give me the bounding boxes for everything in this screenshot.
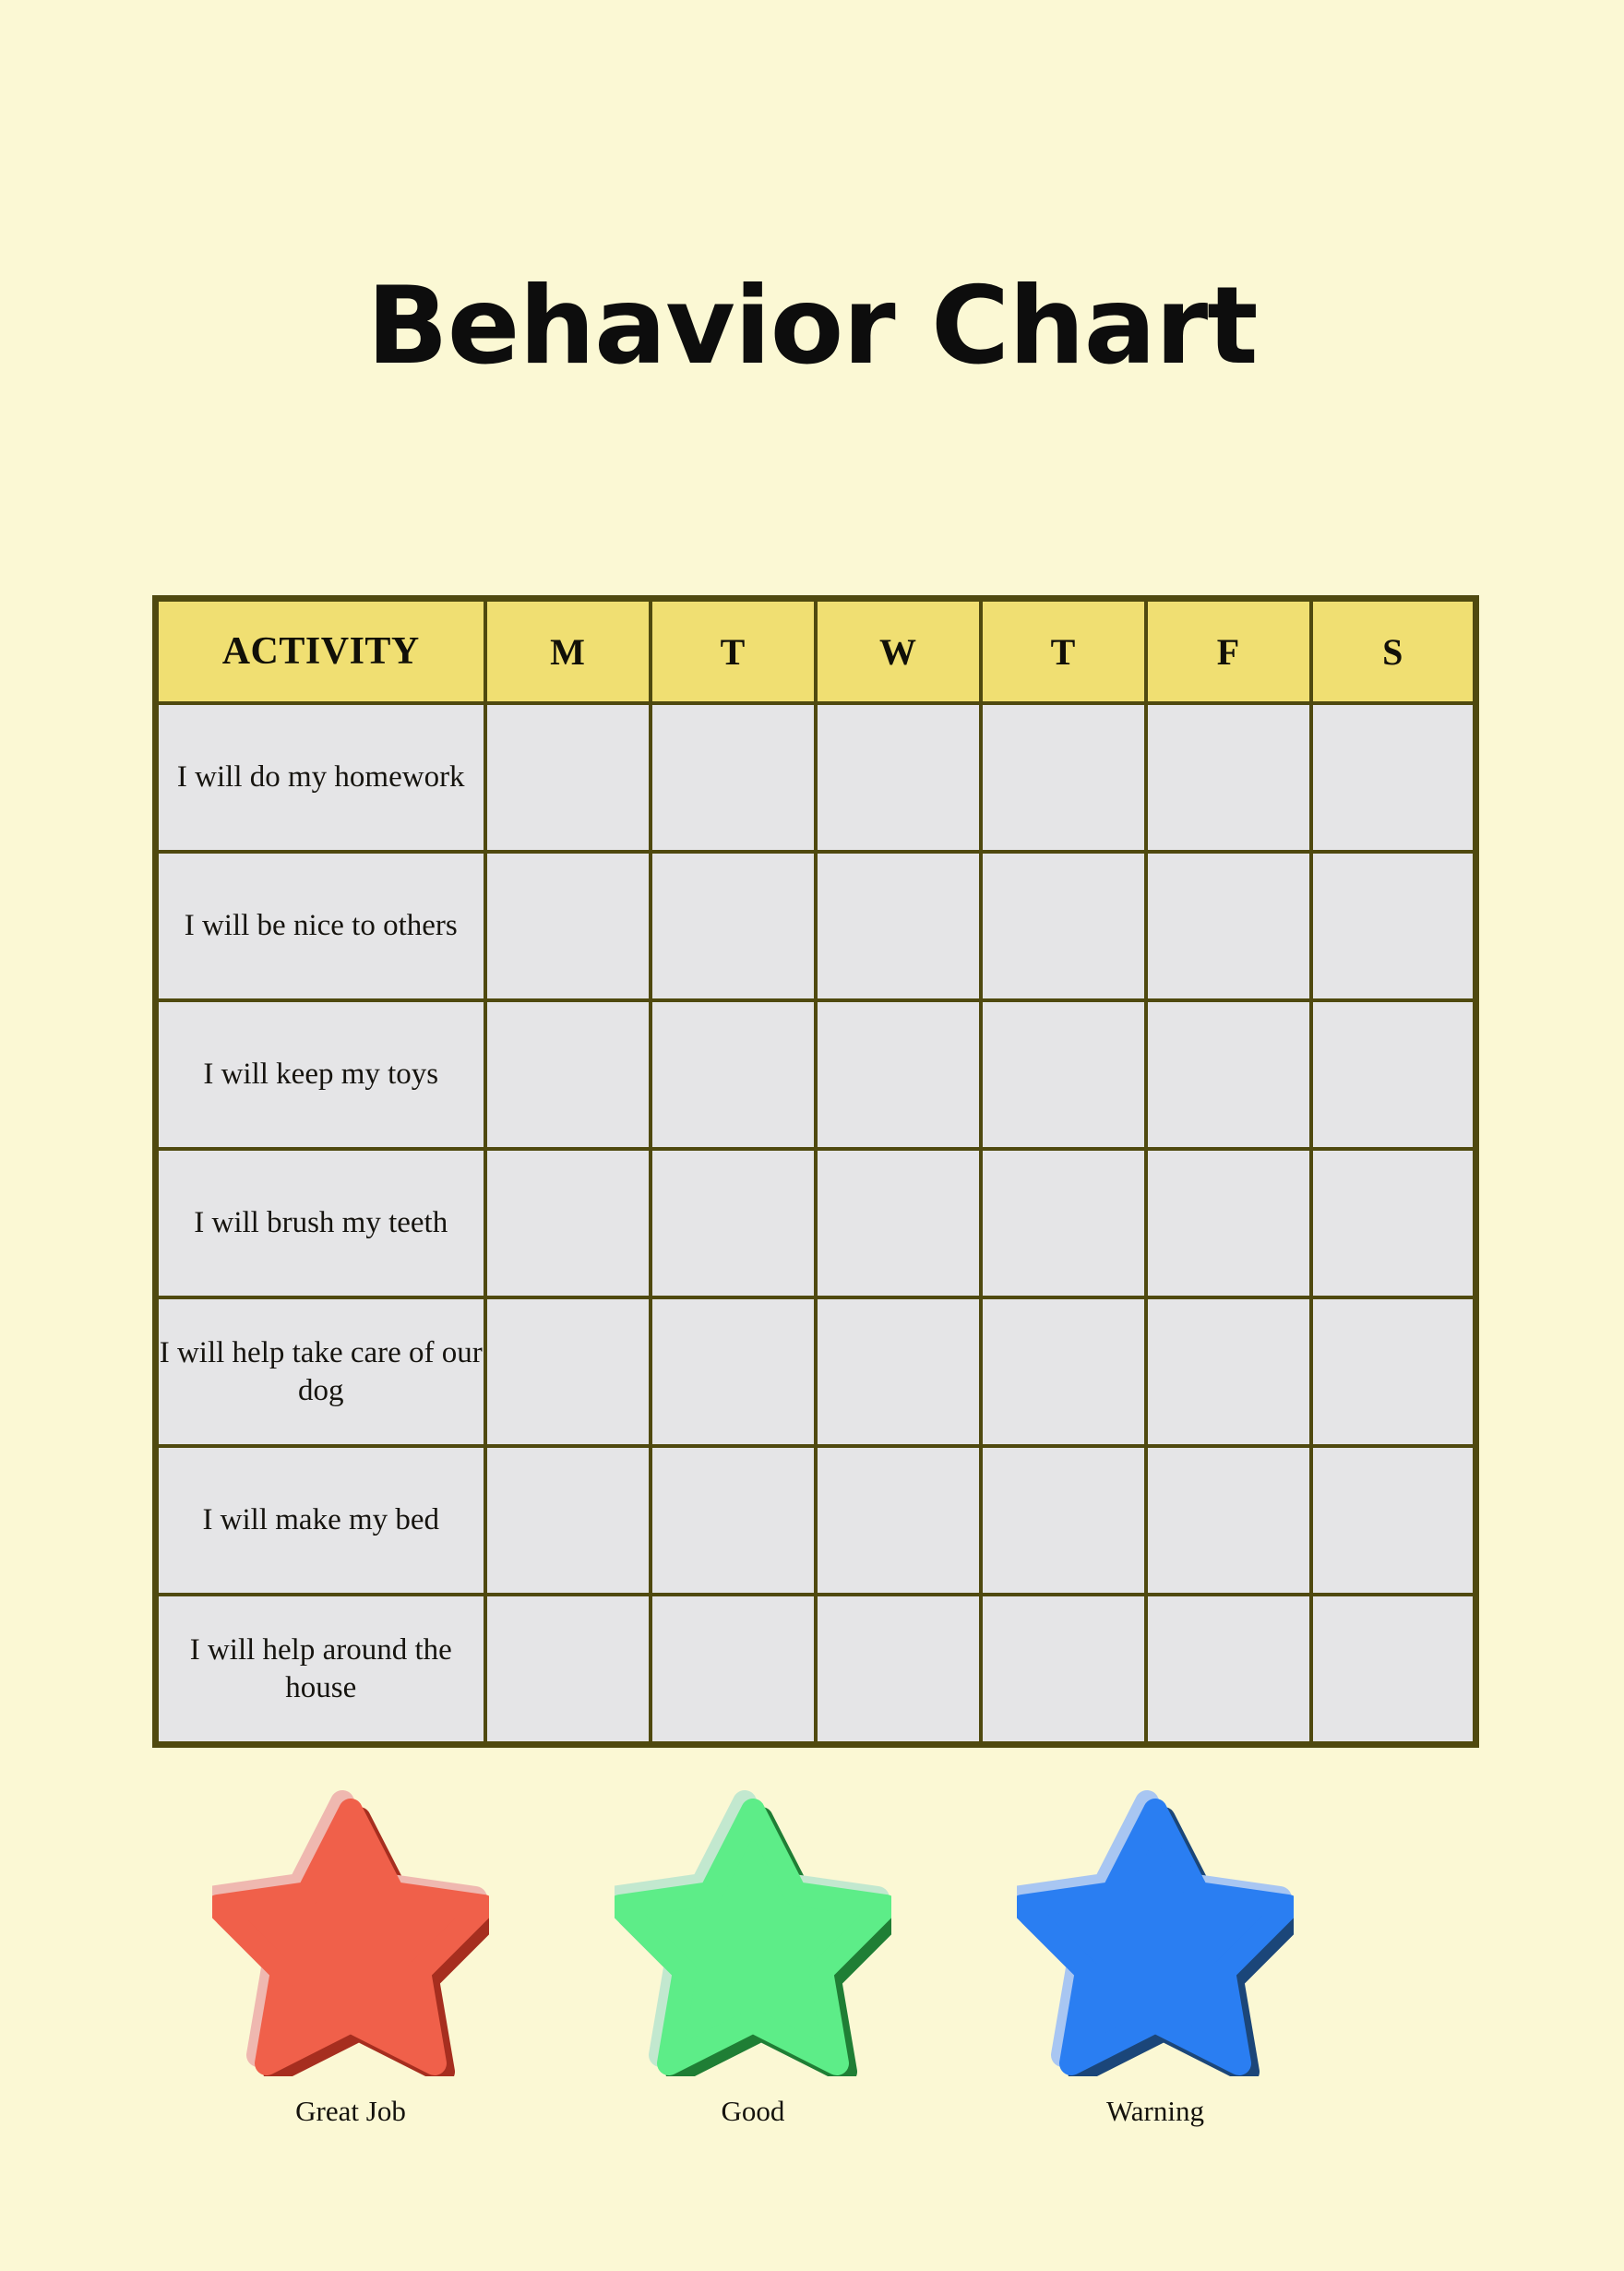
mark-cell-tue[interactable] bbox=[651, 1000, 816, 1149]
column-header-activity: ACTIVITY bbox=[156, 599, 485, 704]
mark-cell-wed[interactable] bbox=[816, 1000, 981, 1149]
mark-cell-tue[interactable] bbox=[651, 1446, 816, 1595]
legend-item-warning: Warning bbox=[957, 1781, 1354, 2125]
activity-label: I will be nice to others bbox=[156, 852, 485, 1000]
mark-cell-fri[interactable] bbox=[1146, 1149, 1311, 1297]
legend-label: Good bbox=[722, 2097, 785, 2125]
mark-cell-tue[interactable] bbox=[651, 1297, 816, 1446]
legend-item-good: Good bbox=[555, 1781, 951, 2125]
mark-cell-mon[interactable] bbox=[485, 1446, 651, 1595]
mark-cell-sat[interactable] bbox=[1311, 852, 1476, 1000]
mark-cell-thu[interactable] bbox=[981, 852, 1146, 1000]
table-row: I will do my homework bbox=[156, 703, 1476, 852]
mark-cell-wed[interactable] bbox=[816, 1446, 981, 1595]
column-header-thursday: T bbox=[981, 599, 1146, 704]
mark-cell-sat[interactable] bbox=[1311, 703, 1476, 852]
table-row: I will help around the house bbox=[156, 1595, 1476, 1745]
mark-cell-mon[interactable] bbox=[485, 1000, 651, 1149]
star-icon bbox=[1017, 1781, 1294, 2076]
mark-cell-tue[interactable] bbox=[651, 852, 816, 1000]
mark-cell-thu[interactable] bbox=[981, 1446, 1146, 1595]
legend-label: Warning bbox=[1106, 2097, 1204, 2125]
behavior-chart-page: Behavior Chart ACTIVITY M T W T F S bbox=[0, 0, 1624, 2271]
activity-label: I will do my homework bbox=[156, 703, 485, 852]
mark-cell-wed[interactable] bbox=[816, 1595, 981, 1745]
mark-cell-mon[interactable] bbox=[485, 1297, 651, 1446]
mark-cell-fri[interactable] bbox=[1146, 852, 1311, 1000]
column-header-saturday: S bbox=[1311, 599, 1476, 704]
table-row: I will keep my toys bbox=[156, 1000, 1476, 1149]
behavior-table: ACTIVITY M T W T F S I will do my homewo… bbox=[152, 595, 1479, 1748]
activity-label: I will help around the house bbox=[156, 1595, 485, 1745]
mark-cell-fri[interactable] bbox=[1146, 1446, 1311, 1595]
mark-cell-wed[interactable] bbox=[816, 1297, 981, 1446]
table-row: I will help take care of our dog bbox=[156, 1297, 1476, 1446]
page-title: Behavior Chart bbox=[0, 273, 1624, 380]
mark-cell-thu[interactable] bbox=[981, 1149, 1146, 1297]
mark-cell-wed[interactable] bbox=[816, 852, 981, 1000]
column-header-tuesday: T bbox=[651, 599, 816, 704]
activity-label: I will make my bed bbox=[156, 1446, 485, 1595]
star-icon bbox=[615, 1781, 891, 2076]
mark-cell-fri[interactable] bbox=[1146, 1595, 1311, 1745]
table-row: I will make my bed bbox=[156, 1446, 1476, 1595]
mark-cell-mon[interactable] bbox=[485, 1595, 651, 1745]
star-legend: Great Job Good Warning bbox=[152, 1781, 1475, 2125]
mark-cell-sat[interactable] bbox=[1311, 1297, 1476, 1446]
mark-cell-fri[interactable] bbox=[1146, 703, 1311, 852]
mark-cell-fri[interactable] bbox=[1146, 1000, 1311, 1149]
mark-cell-thu[interactable] bbox=[981, 1000, 1146, 1149]
table-row: I will be nice to others bbox=[156, 852, 1476, 1000]
mark-cell-wed[interactable] bbox=[816, 1149, 981, 1297]
mark-cell-thu[interactable] bbox=[981, 1297, 1146, 1446]
mark-cell-sat[interactable] bbox=[1311, 1446, 1476, 1595]
mark-cell-tue[interactable] bbox=[651, 1595, 816, 1745]
mark-cell-thu[interactable] bbox=[981, 1595, 1146, 1745]
column-header-friday: F bbox=[1146, 599, 1311, 704]
legend-item-great-job: Great Job bbox=[152, 1781, 549, 2125]
mark-cell-sat[interactable] bbox=[1311, 1149, 1476, 1297]
mark-cell-mon[interactable] bbox=[485, 852, 651, 1000]
mark-cell-tue[interactable] bbox=[651, 703, 816, 852]
mark-cell-tue[interactable] bbox=[651, 1149, 816, 1297]
mark-cell-mon[interactable] bbox=[485, 1149, 651, 1297]
activity-label: I will keep my toys bbox=[156, 1000, 485, 1149]
mark-cell-mon[interactable] bbox=[485, 703, 651, 852]
legend-label: Great Job bbox=[295, 2097, 406, 2125]
mark-cell-fri[interactable] bbox=[1146, 1297, 1311, 1446]
activity-label: I will help take care of our dog bbox=[156, 1297, 485, 1446]
mark-cell-thu[interactable] bbox=[981, 703, 1146, 852]
table-row: I will brush my teeth bbox=[156, 1149, 1476, 1297]
star-icon bbox=[212, 1781, 489, 2076]
activity-label: I will brush my teeth bbox=[156, 1149, 485, 1297]
table-header-row: ACTIVITY M T W T F S bbox=[156, 599, 1476, 704]
behavior-table-container: ACTIVITY M T W T F S I will do my homewo… bbox=[152, 595, 1475, 1748]
column-header-monday: M bbox=[485, 599, 651, 704]
mark-cell-sat[interactable] bbox=[1311, 1000, 1476, 1149]
mark-cell-wed[interactable] bbox=[816, 703, 981, 852]
column-header-wednesday: W bbox=[816, 599, 981, 704]
mark-cell-sat[interactable] bbox=[1311, 1595, 1476, 1745]
